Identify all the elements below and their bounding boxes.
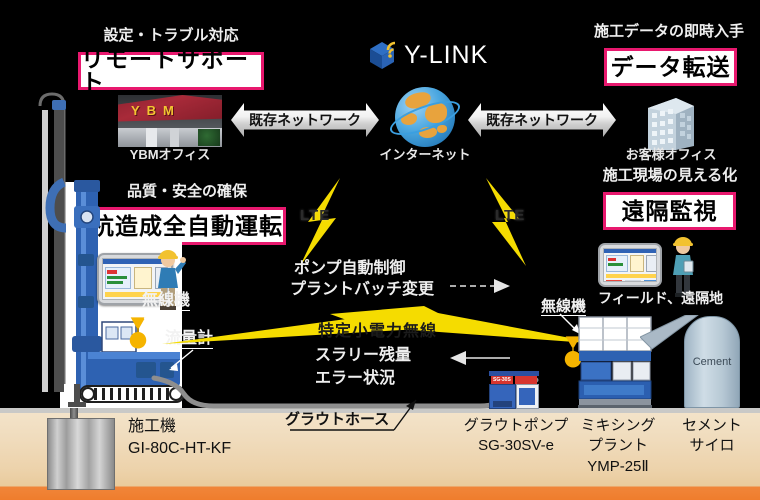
- grout-pump-label-group: グラウトポンプ SG-30SV-e: [463, 416, 569, 457]
- slurry-status-text-line1: スラリー残量: [315, 347, 411, 365]
- cement-silo-text: Cement: [693, 356, 732, 368]
- from-plant-arrow: [448, 350, 512, 366]
- machine-label-group: 施工機 GI-80C-HT-KF: [128, 416, 231, 459]
- grout-hose-leader-line: [288, 398, 428, 440]
- field-tablet[interactable]: [598, 243, 662, 287]
- cement-silo-label-line1: セメント: [669, 416, 755, 436]
- cube-wifi-icon: [366, 38, 400, 72]
- field-tablet-screen: [603, 248, 657, 282]
- drilled-pile: [47, 418, 115, 490]
- data-transfer-box[interactable]: データ転送: [604, 48, 737, 86]
- remote-support-caption: 設定・トラブル対応: [76, 28, 266, 45]
- lte-label-left: LTE: [300, 207, 330, 224]
- cement-silo-label-line2: サイロ: [669, 436, 755, 456]
- machine-label-line1: 施工機: [128, 416, 231, 438]
- field-remote-label: フィールド、遠隔地: [598, 290, 723, 306]
- remote-monitoring-caption: 施工現場の見える化: [580, 168, 760, 185]
- machine-label-line2: GI-80C-HT-KF: [128, 438, 231, 460]
- diagram-canvas: 設定・トラブル対応 リモートサポート YBM YBMオフィス 既存ネットワーク …: [0, 0, 760, 500]
- field-operator-figure: [668, 235, 700, 297]
- pump-control-text-line2: プラントバッチ変更: [290, 281, 434, 299]
- ylink-logo: Y-LINK: [366, 38, 488, 72]
- data-transfer-caption: 施工データの即時入手: [578, 24, 760, 41]
- existing-network-arrow-right: 既存ネットワーク: [468, 103, 616, 137]
- mixing-plant-label-line1: ミキシング: [569, 416, 667, 436]
- cement-silo-label-group: セメント サイロ: [669, 416, 755, 457]
- cement-silo: Cement: [684, 316, 740, 408]
- existing-network-arrow-left: 既存ネットワーク: [231, 103, 379, 137]
- mixing-plant-label-line3: YMP-25Ⅱ: [569, 457, 667, 477]
- low-power-radio-label: 特定小電力無線: [318, 317, 437, 341]
- internet-globe: [388, 86, 462, 148]
- pump-model-text: SG-30S: [493, 377, 511, 383]
- grout-pump-machine: SG-30S: [489, 371, 539, 409]
- grout-pump-label-line1: グラウトポンプ: [463, 416, 569, 436]
- lte-label-right: LTE: [495, 207, 525, 224]
- to-plant-arrow: [448, 278, 512, 294]
- internet-label: インターネット: [370, 148, 480, 163]
- mixing-plant-label-group: ミキシング プラント YMP-25Ⅱ: [569, 416, 667, 477]
- ylink-logo-text: Y-LINK: [404, 41, 488, 70]
- grout-pump-label-line2: SG-30SV-e: [463, 436, 569, 456]
- pump-control-text-line1: ポンプ自動制御: [294, 260, 406, 278]
- slurry-status-text-line2: エラー状況: [315, 370, 395, 388]
- remote-monitoring-box[interactable]: 遠隔監視: [603, 192, 736, 230]
- customer-office-building-icon: [638, 88, 704, 154]
- customer-office-label: お客様オフィス: [612, 148, 730, 163]
- mixing-plant-label-line2: プラント: [569, 436, 667, 456]
